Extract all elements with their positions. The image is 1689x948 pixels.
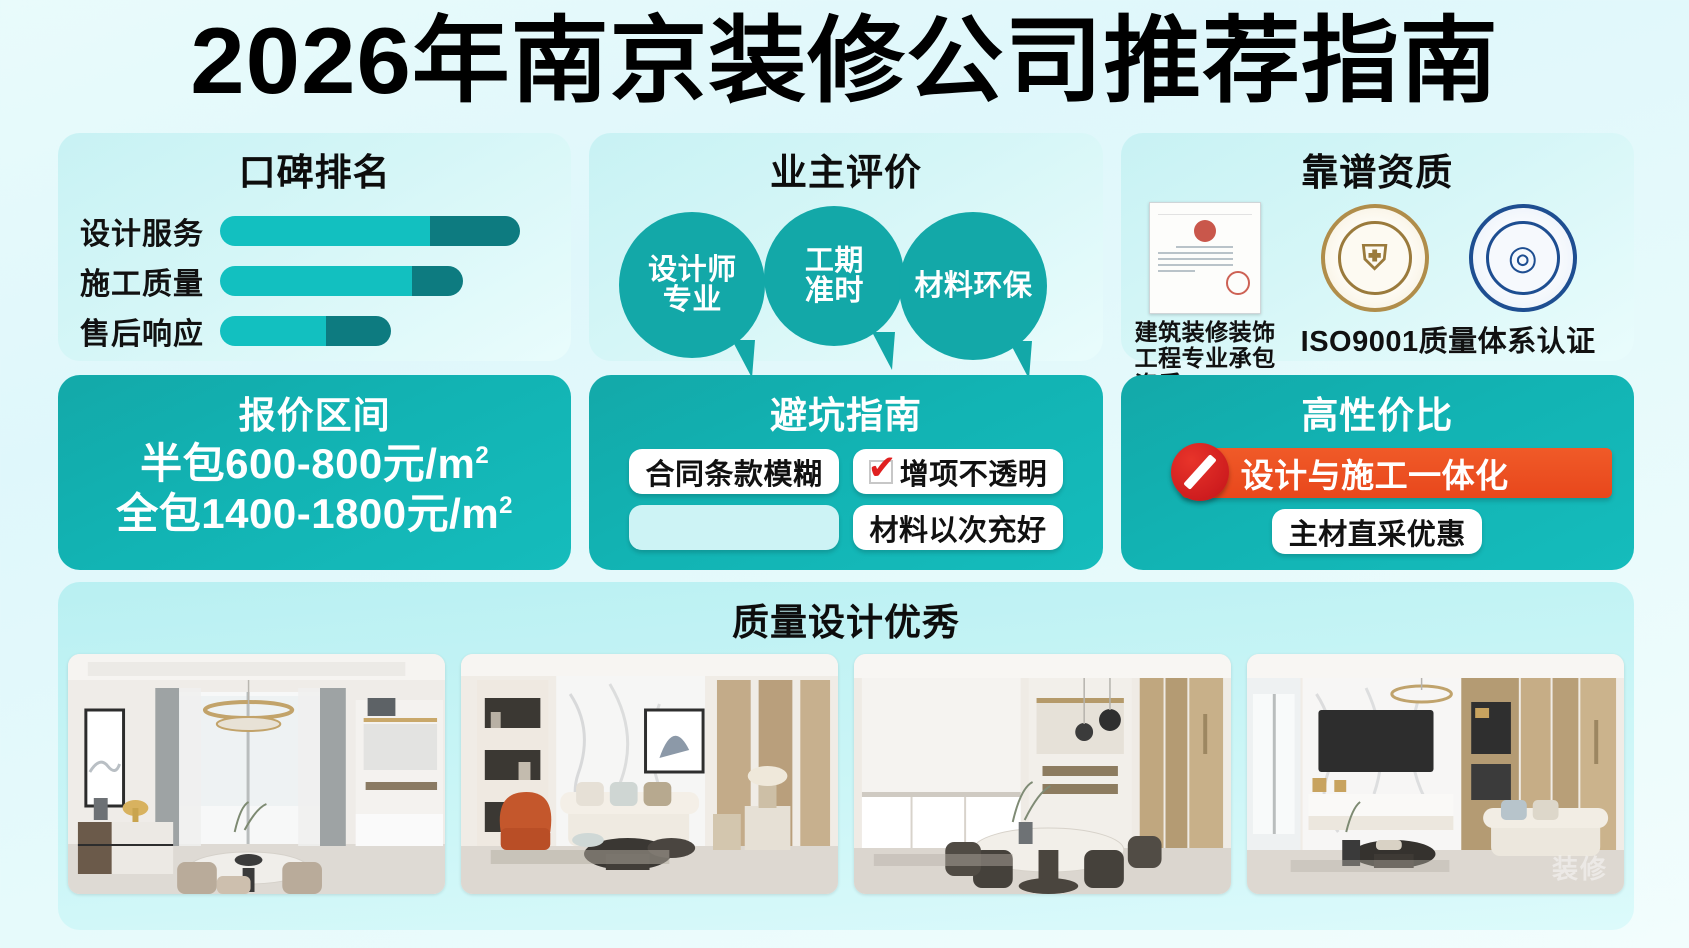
review-bubble-tail — [732, 340, 755, 378]
pitfall-chip-label: 合同条款模糊 — [645, 451, 822, 493]
dining-kitchen-photo[interactable] — [854, 654, 1231, 894]
review-bubbles: 设计师 专业 工期 准时 材料环保 — [589, 198, 1102, 370]
review-bubble-tail — [872, 332, 895, 370]
quote-card: 报价区间 半包600-800元/m2 全包1400-1800元/m2 — [58, 375, 571, 570]
qualifications-heading: 靠谱资质 — [1121, 133, 1634, 196]
page-title: 2026年南京装修公司推荐指南 — [0, 12, 1689, 111]
ranking-heading: 口碑排名 — [58, 133, 571, 196]
ranking-row: 售后响应 — [80, 306, 571, 356]
gallery-heading: 质量设计优秀 — [58, 582, 1634, 646]
gold-seal-icon: ⛨ — [1321, 204, 1429, 312]
pitfall-chip-empty[interactable] — [629, 505, 839, 550]
ranking-label: 设计服务 — [80, 209, 220, 253]
cert-doc-line — [1158, 264, 1233, 266]
ranking-bar-secondary — [430, 216, 520, 246]
pitfall-chip[interactable]: 合同条款模糊 — [629, 449, 839, 494]
dining-room-photo[interactable] — [68, 654, 445, 894]
ranking-bar-primary — [220, 216, 430, 246]
quote-line-text: 全包1400-1800元/m — [116, 490, 499, 537]
cert-doc-line — [1158, 252, 1233, 254]
blue-seal-icon: ◎ — [1469, 204, 1577, 312]
quote-line: 半包600-800元/m2 — [58, 439, 571, 489]
gold-seal-glyph: ⛨ — [1362, 239, 1388, 278]
cert-doc-line — [1158, 270, 1196, 272]
ranking-bar-primary — [220, 316, 326, 346]
gallery-watermark: 装修 — [1552, 849, 1608, 886]
review-bubble: 材料环保 — [899, 212, 1047, 360]
value-chip-label: 主材直采优惠 — [1289, 511, 1466, 553]
quote-line: 全包1400-1800元/m2 — [58, 489, 571, 539]
pitfall-chip[interactable]: ✔ 增项不透明 — [853, 449, 1063, 494]
pitfall-chip[interactable]: 材料以次充好 — [853, 505, 1063, 550]
top-row: 口碑排名 设计服务 施工质量 售后响应 — [58, 133, 1634, 361]
ranking-label: 施工质量 — [80, 259, 220, 303]
value-heading: 高性价比 — [1121, 385, 1634, 439]
review-bubble-line1: 工期 — [805, 246, 864, 276]
value-banner[interactable]: 设计与施工一体化 — [1181, 448, 1612, 498]
ranking-label: 售后响应 — [80, 309, 220, 353]
cert-doc-header — [1158, 210, 1252, 215]
gallery-photos: 装修 — [58, 646, 1634, 894]
pitfalls-heading: 避坑指南 — [589, 385, 1102, 439]
ranking-card: 口碑排名 设计服务 施工质量 售后响应 — [58, 133, 571, 361]
review-bubble: 设计师 专业 — [619, 212, 765, 358]
qualifications-card: 靠谱资质 ⛨ — [1121, 133, 1634, 361]
review-bubble-line2: 准时 — [805, 276, 864, 306]
ranking-bar-secondary — [326, 316, 391, 346]
living-room-photo[interactable] — [461, 654, 838, 894]
quote-line-sup: 2 — [499, 492, 513, 519]
check-mark-icon: ✔ — [868, 451, 897, 485]
value-chip[interactable]: 主材直采优惠 — [1272, 509, 1482, 554]
qualification-caption-2: ISO9001质量体系认证 — [1301, 326, 1611, 358]
pitfall-chip-label: 增项不透明 — [900, 451, 1048, 493]
quote-heading: 报价区间 — [58, 385, 571, 439]
middle-row: 报价区间 半包600-800元/m2 全包1400-1800元/m2 避坑指南 … — [58, 375, 1634, 570]
ranking-bar-secondary — [412, 266, 463, 296]
value-chip-row: 主材直采优惠 — [1121, 498, 1634, 554]
reviews-card: 业主评价 设计师 专业 工期 准时 — [589, 133, 1102, 361]
review-bubble: 工期 准时 — [764, 206, 904, 346]
review-bubble-line1: 设计师 — [648, 255, 737, 285]
certificate-document-icon — [1149, 202, 1261, 314]
blue-seal-glyph: ◎ — [1508, 238, 1538, 278]
quote-line-text: 半包600-800元/m — [140, 440, 475, 487]
dining-kitchen-illustration — [854, 654, 1231, 894]
ranking-bar-track — [220, 316, 391, 346]
quote-line-sup: 2 — [475, 442, 489, 469]
review-bubble-tail — [1009, 341, 1032, 379]
value-banner-label: 设计与施工一体化 — [1241, 449, 1509, 497]
qualification-items: ⛨ ◎ 建筑装修装饰工程专业承包资质 ISO9001质量体系认证 — [1121, 196, 1634, 371]
value-card: 高性价比 设计与施工一体化 主材直采优惠 — [1121, 375, 1634, 570]
living-room-illustration — [461, 654, 838, 894]
pitfalls-card: 避坑指南 合同条款模糊 ✔ 增项不透明 材料以次充好 — [589, 375, 1102, 570]
no-entry-icon — [1171, 443, 1229, 501]
review-bubble-line2: 专业 — [648, 285, 737, 315]
blue-seal-inner: ◎ — [1486, 221, 1560, 295]
gallery-section: 质量设计优秀 — [58, 582, 1634, 930]
infographic-page: 2026年南京装修公司推荐指南 口碑排名 设计服务 施工质量 — [0, 0, 1689, 948]
checkbox-icon[interactable]: ✔ — [869, 460, 893, 484]
page-title-wrap: 2026年南京装修公司推荐指南 — [0, 12, 1689, 111]
review-bubble-text: 材料环保 — [914, 271, 1032, 301]
ranking-bar-track — [220, 266, 463, 296]
pitfall-chip-label: 材料以次充好 — [869, 507, 1046, 549]
cert-doc-red-seal-icon — [1226, 271, 1250, 295]
gold-seal-inner: ⛨ — [1338, 221, 1412, 295]
cert-doc-stamp-icon — [1194, 220, 1216, 242]
dining-room-illustration — [68, 654, 445, 894]
review-bubble-line1: 材料环保 — [914, 271, 1032, 301]
living-tv-photo[interactable]: 装修 — [1247, 654, 1624, 894]
ranking-row: 施工质量 — [80, 256, 571, 306]
pitfalls-chip-list: 合同条款模糊 ✔ 增项不透明 材料以次充好 — [589, 439, 1102, 550]
cert-doc-line — [1158, 258, 1233, 260]
ranking-row: 设计服务 — [80, 206, 571, 256]
review-bubble-text: 工期 准时 — [805, 246, 864, 307]
review-bubble-text: 设计师 专业 — [648, 255, 737, 316]
reviews-heading: 业主评价 — [589, 133, 1102, 196]
cert-doc-line — [1176, 246, 1232, 248]
ranking-bar-primary — [220, 266, 412, 296]
ranking-bar-track — [220, 216, 520, 246]
ranking-bars: 设计服务 施工质量 售后响应 — [58, 196, 571, 356]
